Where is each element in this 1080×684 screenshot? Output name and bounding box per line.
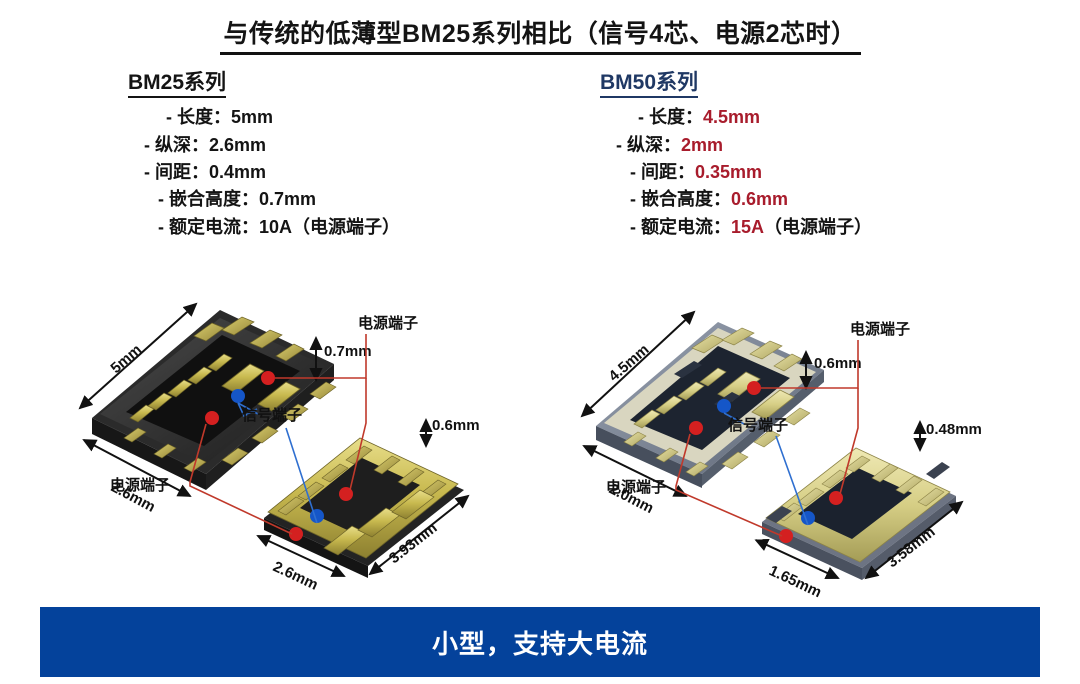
power-terminal-dot [261, 371, 275, 385]
spec-row-pitch: - 间距：0.35mm [600, 159, 872, 186]
banner-text: 小型，支持大电流 [432, 624, 648, 661]
spec-label: - 嵌合高度： [630, 189, 731, 209]
spec-suffix: （电源端子） [292, 217, 400, 237]
figure-bm25: 5mm 2.6mm 0.7mm 0.6mm 2.6mm 3.93mm [72, 268, 502, 568]
spec-value: 2mm [681, 135, 723, 155]
spec-row-rated-current: - 额定电流：15A（电源端子） [600, 214, 872, 241]
spec-block-bm50: BM50系列 - 长度：4.5mm - 纵深：2mm - 间距：0.35mm -… [600, 70, 872, 241]
spec-row-length: - 长度：5mm [128, 104, 400, 131]
spec-label: - 纵深： [616, 135, 681, 155]
spec-value: 0.35mm [695, 162, 762, 182]
callout-signal-terminal: 信号端子 [242, 406, 302, 424]
figure-bm50: 4.5mm 2.0mm 0.6mm 0.48mm 1.65mm 3.58mm [566, 278, 1006, 570]
spec-row-depth: - 纵深：2mm [600, 132, 872, 159]
spec-label: - 额定电流： [630, 217, 731, 237]
spec-value: 10A [259, 217, 292, 237]
spec-row-mated-height: - 嵌合高度：0.7mm [128, 186, 400, 213]
spec-list-bm25: - 长度：5mm - 纵深：2.6mm - 间距：0.4mm - 嵌合高度：0.… [128, 104, 400, 241]
spec-label: - 嵌合高度： [158, 189, 259, 209]
power-terminal-dot [747, 381, 761, 395]
spec-heading-bm25: BM25系列 [128, 70, 226, 98]
signal-terminal-dot [717, 399, 731, 413]
spec-label: - 间距： [144, 162, 209, 182]
signal-terminal-dot [231, 389, 245, 403]
spec-row-mated-height: - 嵌合高度：0.6mm [600, 186, 872, 213]
spec-row-depth: - 纵深：2.6mm [128, 132, 400, 159]
bm50-receptacle-model [596, 322, 824, 488]
callout-power-terminal-bottom: 电源端子 [110, 476, 170, 494]
dim-label-length: 5mm [107, 341, 145, 377]
page-title-text: 与传统的低薄型BM25系列相比（信号4芯、电源2芯时） [220, 20, 861, 55]
spec-value: 15A [731, 217, 764, 237]
dim-label-height: 0.6mm [814, 355, 862, 372]
dim-label-plug-height: 0.6mm [432, 417, 480, 434]
spec-suffix: （电源端子） [764, 217, 872, 237]
callout-power-terminal-top: 电源端子 [850, 320, 910, 338]
callout-signal-terminal: 信号端子 [728, 416, 788, 434]
dim-label-length: 4.5mm [605, 341, 652, 385]
spec-value: 0.7mm [259, 189, 316, 209]
dim-label-height: 0.7mm [324, 343, 372, 360]
spec-row-pitch: - 间距：0.4mm [128, 159, 400, 186]
spec-label: - 长度： [638, 107, 703, 127]
spec-value: 5mm [231, 107, 273, 127]
spec-row-rated-current: - 额定电流：10A（电源端子） [128, 214, 400, 241]
spec-block-bm25: BM25系列 - 长度：5mm - 纵深：2.6mm - 间距：0.4mm - … [128, 70, 400, 241]
slide-canvas: 与传统的低薄型BM25系列相比（信号4芯、电源2芯时） BM25系列 - 长度：… [0, 0, 1080, 684]
spec-label: - 额定电流： [158, 217, 259, 237]
spec-row-length: - 长度：4.5mm [600, 104, 872, 131]
spec-value: 0.4mm [209, 162, 266, 182]
dim-label-plug-depth: 2.6mm [270, 558, 320, 593]
callout-power-terminal-bottom: 电源端子 [606, 478, 666, 496]
bm50-plug-model [762, 448, 956, 580]
spec-list-bm50: - 长度：4.5mm - 纵深：2mm - 间距：0.35mm - 嵌合高度：0… [600, 104, 872, 241]
spec-label: - 纵深： [144, 135, 209, 155]
power-terminal-dot [205, 411, 219, 425]
spec-heading-bm50: BM50系列 [600, 70, 698, 98]
dim-label-plug-height: 0.48mm [926, 421, 982, 438]
callout-power-terminal-top: 电源端子 [358, 314, 418, 332]
spec-value: 0.6mm [731, 189, 788, 209]
bottom-banner: 小型，支持大电流 [40, 607, 1040, 677]
spec-value: 2.6mm [209, 135, 266, 155]
spec-value: 4.5mm [703, 107, 760, 127]
spec-label: - 间距： [630, 162, 695, 182]
page-title: 与传统的低薄型BM25系列相比（信号4芯、电源2芯时） [0, 20, 1080, 55]
bm25-plug-model [264, 438, 464, 578]
power-terminal-dot [689, 421, 703, 435]
spec-label: - 长度： [166, 107, 231, 127]
